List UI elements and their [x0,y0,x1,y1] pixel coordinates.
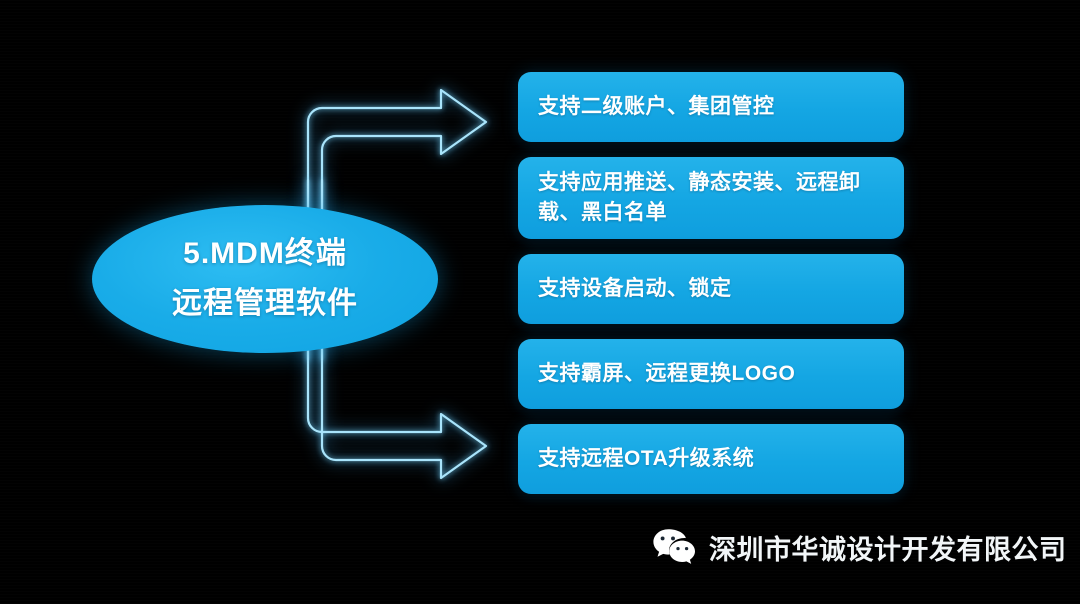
slide-canvas: 5.MDM终端 远程管理软件 支持二级账户、集团管控 支持应用推送、静态安装、远… [0,0,1080,604]
feature-box-1-label: 支持二级账户、集团管控 [538,92,775,122]
footer-branding: 深圳市华诚设计开发有限公司 [652,527,1067,567]
main-topic-ellipse: 5.MDM终端 远程管理软件 [92,205,438,353]
feature-box-2-label: 支持应用推送、静态安装、远程卸载、黑白名单 [538,168,884,228]
feature-box-5-label: 支持远程OTA升级系统 [538,444,754,474]
feature-box-4[interactable]: 支持霸屏、远程更换LOGO [518,339,904,409]
feature-box-1[interactable]: 支持二级账户、集团管控 [518,72,904,142]
feature-box-5[interactable]: 支持远程OTA升级系统 [518,424,904,494]
ellipse-title-line-2: 远程管理软件 [172,289,358,319]
footer-company-name: 深圳市华诚设计开发有限公司 [709,528,1067,567]
feature-box-3-label: 支持设备启动、锁定 [538,274,732,304]
feature-box-2[interactable]: 支持应用推送、静态安装、远程卸载、黑白名单 [518,157,904,239]
feature-box-3[interactable]: 支持设备启动、锁定 [518,254,904,324]
feature-box-4-label: 支持霸屏、远程更换LOGO [538,359,795,389]
ellipse-title-line-1: 5.MDM终端 [183,239,347,269]
wechat-icon [652,527,696,567]
feature-box-list: 支持二级账户、集团管控 支持应用推送、静态安装、远程卸载、黑白名单 支持设备启动… [518,72,904,494]
